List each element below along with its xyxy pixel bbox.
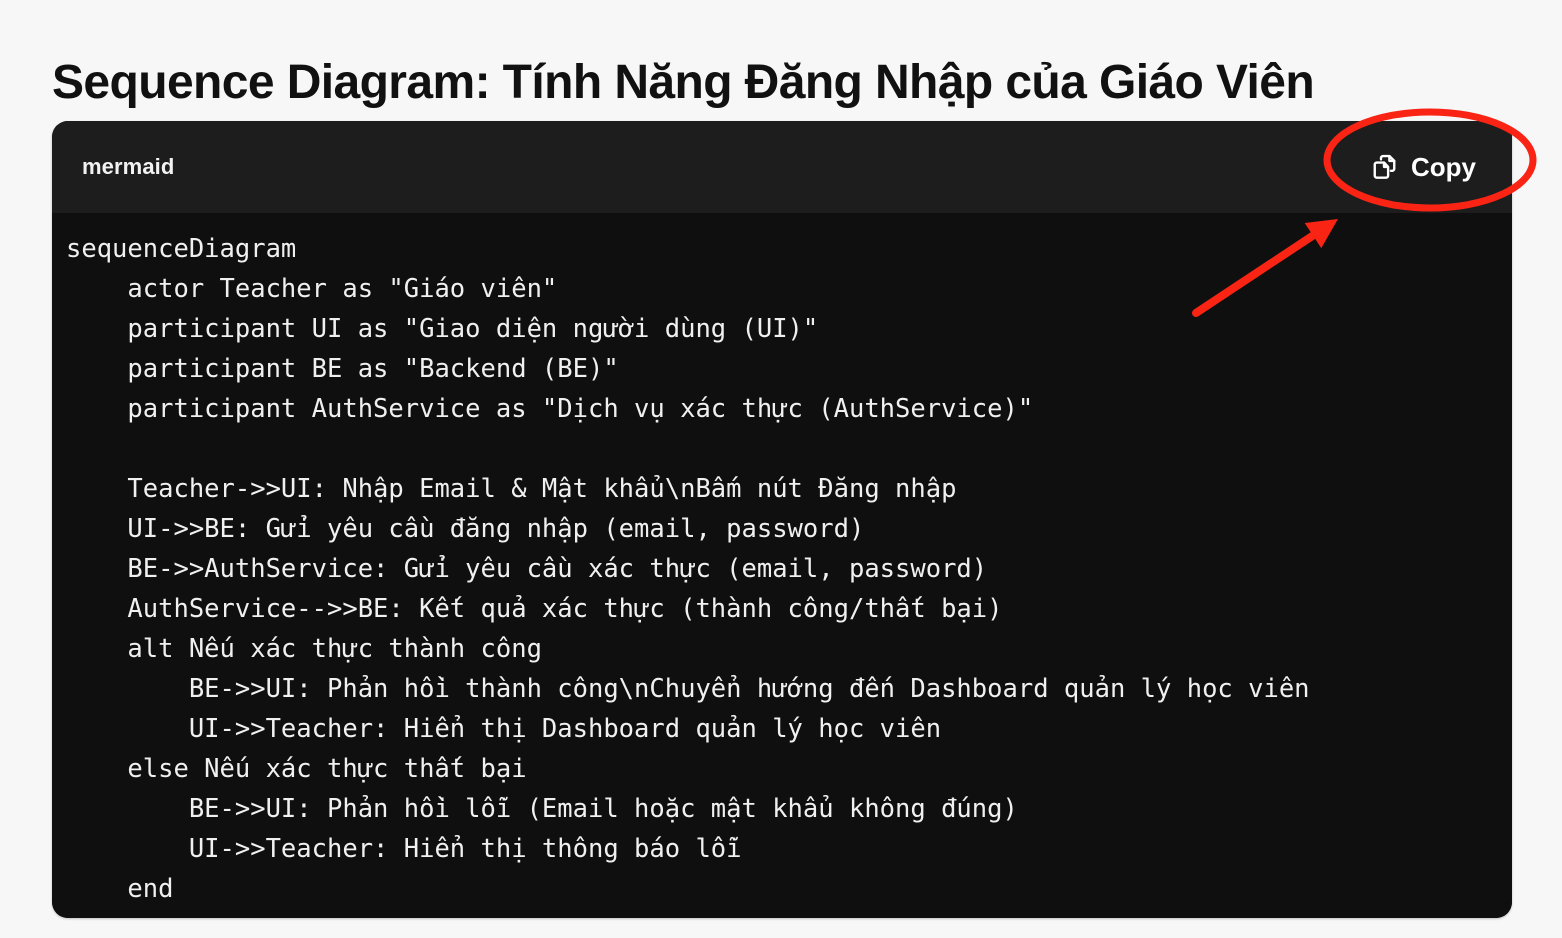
code-line xyxy=(66,429,1512,469)
code-line: end xyxy=(66,869,1512,909)
code-line: sequenceDiagram xyxy=(66,229,1512,269)
code-line: Teacher->>UI: Nhập Email & Mật khẩu\nBấm… xyxy=(66,469,1512,509)
code-lines-container: sequenceDiagram actor Teacher as "Giáo v… xyxy=(66,229,1512,909)
code-block-body[interactable]: sequenceDiagram actor Teacher as "Giáo v… xyxy=(52,213,1512,918)
copy-button-label: Copy xyxy=(1411,152,1476,183)
code-line: BE->>UI: Phản hồi thành công\nChuyển hướ… xyxy=(66,669,1512,709)
code-line: participant UI as "Giao diện người dùng … xyxy=(66,309,1512,349)
copy-button[interactable]: Copy xyxy=(1356,146,1490,189)
code-line: AuthService-->>BE: Kết quả xác thực (thà… xyxy=(66,589,1512,629)
page-root: Sequence Diagram: Tính Năng Đăng Nhập củ… xyxy=(0,0,1562,938)
code-line: actor Teacher as "Giáo viên" xyxy=(66,269,1512,309)
mermaid-source-code[interactable]: sequenceDiagram actor Teacher as "Giáo v… xyxy=(66,229,1512,909)
code-line: else Nếu xác thực thất bại xyxy=(66,749,1512,789)
code-line: participant BE as "Backend (BE)" xyxy=(66,349,1512,389)
copy-icon xyxy=(1370,152,1400,182)
code-line: BE->>UI: Phản hồi lỗi (Email hoặc mật kh… xyxy=(66,789,1512,829)
code-line: UI->>Teacher: Hiển thị Dashboard quản lý… xyxy=(66,709,1512,749)
code-language-label: mermaid xyxy=(82,154,174,180)
page-title: Sequence Diagram: Tính Năng Đăng Nhập củ… xyxy=(52,55,1314,112)
code-block-header: mermaid Copy xyxy=(52,121,1512,213)
code-line: UI->>Teacher: Hiển thị thông báo lỗi xyxy=(66,829,1512,869)
code-block-card: mermaid Copy sequenceDiagram actor Teach… xyxy=(52,121,1512,918)
code-line: participant AuthService as "Dịch vụ xác … xyxy=(66,389,1512,429)
code-line: UI->>BE: Gửi yêu cầu đăng nhập (email, p… xyxy=(66,509,1512,549)
code-line: alt Nếu xác thực thành công xyxy=(66,629,1512,669)
code-line: BE->>AuthService: Gửi yêu cầu xác thực (… xyxy=(66,549,1512,589)
